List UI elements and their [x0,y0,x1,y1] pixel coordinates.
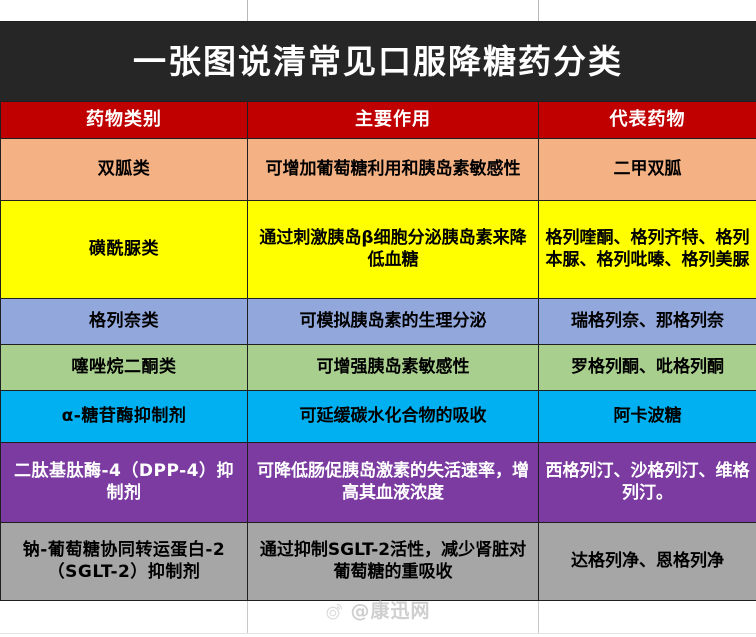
infographic-page: 一张图说清常见口服降糖药分类 药物类别 主要作用 代表药物 双胍类 可增加葡萄糖… [0,0,756,637]
cell-category: 二肽基肽酶-4（DPP-4）抑制剂 [1,443,248,523]
table-row: 磺酰脲类 通过刺激胰岛β细胞分泌胰岛素来降低血糖 格列喹酮、格列齐特、格列本脲、… [1,201,756,299]
header-representative: 代表药物 [539,102,756,139]
cell-action: 通过刺激胰岛β细胞分泌胰岛素来降低血糖 [248,201,539,299]
column-divider-2 [538,0,539,21]
cell-category: 磺酰脲类 [1,201,248,299]
cell-representative: 二甲双胍 [539,139,756,201]
page-title: 一张图说清常见口服降糖药分类 [133,45,623,78]
table-header-row: 药物类别 主要作用 代表药物 [1,102,756,139]
cell-representative: 阿卡波糖 [539,391,756,443]
cell-action: 可降低肠促胰岛激素的失活速率，增高其血液浓度 [248,443,539,523]
column-divider-1-bottom [247,601,248,633]
header-action: 主要作用 [248,102,539,139]
cell-category: 噻唑烷二酮类 [1,345,248,391]
cell-representative: 格列喹酮、格列齐特、格列本脲、格列吡嗪、格列美脲 [539,201,756,299]
cell-category: 双胍类 [1,139,248,201]
table-row: α-糖苷酶抑制剂 可延缓碳水化合物的吸收 阿卡波糖 [1,391,756,443]
table-row: 双胍类 可增加葡萄糖利用和胰岛素敏感性 二甲双胍 [1,139,756,201]
cell-category: 格列奈类 [1,299,248,345]
cell-representative: 达格列净、恩格列净 [539,523,756,601]
drug-classification-table: 药物类别 主要作用 代表药物 双胍类 可增加葡萄糖利用和胰岛素敏感性 二甲双胍 … [0,101,756,601]
cell-representative: 瑞格列奈、那格列奈 [539,299,756,345]
cell-action: 可延缓碳水化合物的吸收 [248,391,539,443]
cell-action: 通过抑制SGLT-2活性，减少肾脏对葡萄糖的重吸收 [248,523,539,601]
cell-action: 可增强胰岛素敏感性 [248,345,539,391]
title-banner: 一张图说清常见口服降糖药分类 [0,22,756,101]
cell-action: 可增加葡萄糖利用和胰岛素敏感性 [248,139,539,201]
top-spacer-row [0,0,756,22]
cell-action: 可模拟胰岛素的生理分泌 [248,299,539,345]
bottom-spacer-row [0,601,756,634]
table-row: 格列奈类 可模拟胰岛素的生理分泌 瑞格列奈、那格列奈 [1,299,756,345]
table-row: 钠-葡萄糖协同转运蛋白-2（SGLT-2）抑制剂 通过抑制SGLT-2活性，减少… [1,523,756,601]
cell-category: α-糖苷酶抑制剂 [1,391,248,443]
table-row: 二肽基肽酶-4（DPP-4）抑制剂 可降低肠促胰岛激素的失活速率，增高其血液浓度… [1,443,756,523]
column-divider-2-bottom [538,601,539,633]
cell-representative: 西格列汀、沙格列汀、维格列汀。 [539,443,756,523]
header-category: 药物类别 [1,102,248,139]
table-row: 噻唑烷二酮类 可增强胰岛素敏感性 罗格列酮、吡格列酮 [1,345,756,391]
cell-representative: 罗格列酮、吡格列酮 [539,345,756,391]
column-divider-1 [247,0,248,21]
cell-category: 钠-葡萄糖协同转运蛋白-2（SGLT-2）抑制剂 [1,523,248,601]
